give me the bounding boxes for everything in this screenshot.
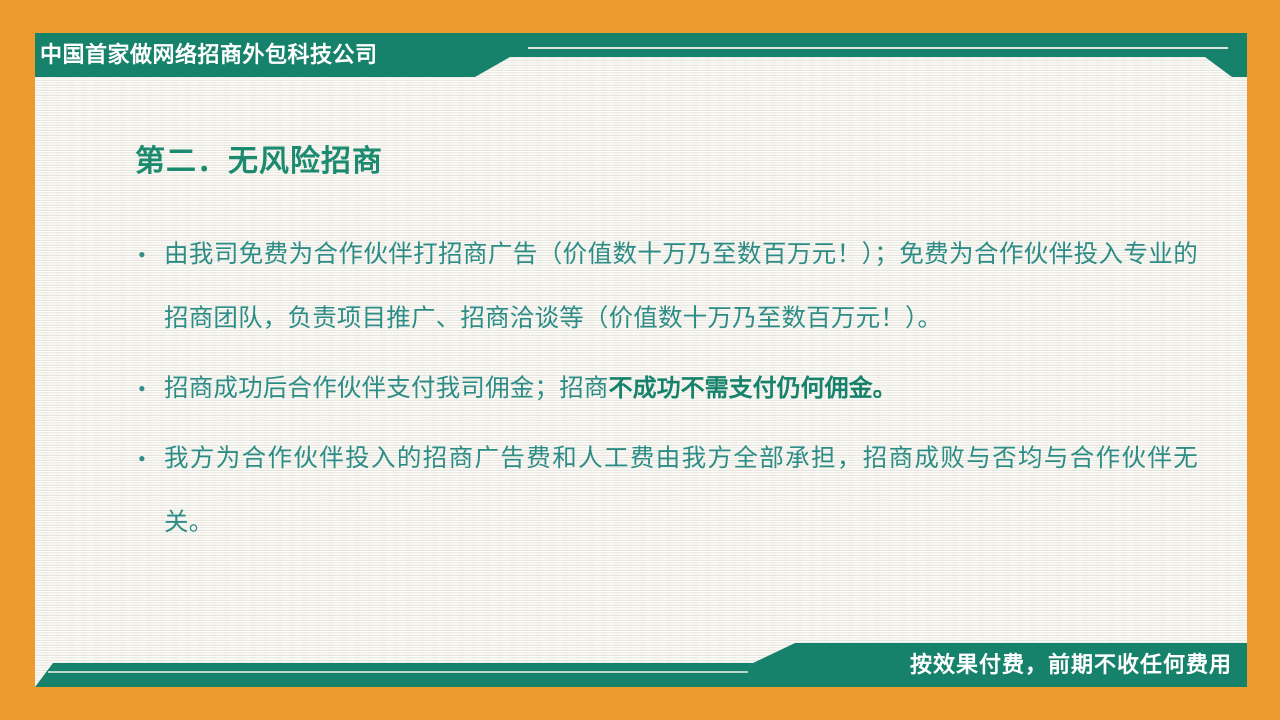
list-item: • 由我司免费为合作伙伴打招商广告（价值数十万乃至数百万元！）；免费为合作伙伴投…	[138, 223, 1198, 351]
footer-divider-line	[48, 671, 748, 673]
list-item-text-emphasis: 不成功不需支付仍何佣金。	[609, 375, 897, 402]
slide: 中国首家做网络招商外包科技公司 第二．无风险招商 • 由我司免费为合作伙伴打招商…	[0, 0, 1280, 720]
footer-tagline: 按效果付费，前期不收任何费用	[910, 648, 1232, 682]
list-item-text: 招商成功后合作伙伴支付我司佣金；招商不成功不需支付仍何佣金。	[164, 357, 1198, 421]
bullet-point-icon: •	[138, 223, 164, 287]
page-title: 第二．无风险招商	[135, 136, 383, 180]
slide-content: 第二．无风险招商 • 由我司免费为合作伙伴打招商广告（价值数十万乃至数百万元！）…	[35, 90, 1247, 635]
list-item-text-plain: 招商成功后合作伙伴支付我司佣金；招商	[164, 375, 609, 402]
bullet-point-icon: •	[138, 357, 164, 421]
bullet-list: • 由我司免费为合作伙伴打招商广告（价值数十万乃至数百万元！）；免费为合作伙伴投…	[138, 223, 1198, 561]
list-item: • 我方为合作伙伴投入的招商广告费和人工费由我方全部承担，招商成败与否均与合作伙…	[138, 427, 1198, 555]
bullet-point-icon: •	[138, 427, 164, 491]
list-item-text: 我方为合作伙伴投入的招商广告费和人工费由我方全部承担，招商成败与否均与合作伙伴无…	[164, 427, 1198, 555]
list-item-text-plain: 我方为合作伙伴投入的招商广告费和人工费由我方全部承担，招商成败与否均与合作伙伴无…	[164, 445, 1198, 536]
header-title: 中国首家做网络招商外包科技公司	[40, 38, 470, 72]
list-item-text-plain: 由我司免费为合作伙伴打招商广告（价值数十万乃至数百万元！）；免费为合作伙伴投入专…	[164, 241, 1198, 332]
list-item: • 招商成功后合作伙伴支付我司佣金；招商不成功不需支付仍何佣金。	[138, 357, 1198, 421]
header-divider-line	[528, 47, 1228, 49]
list-item-text: 由我司免费为合作伙伴打招商广告（价值数十万乃至数百万元！）；免费为合作伙伴投入专…	[164, 223, 1198, 351]
